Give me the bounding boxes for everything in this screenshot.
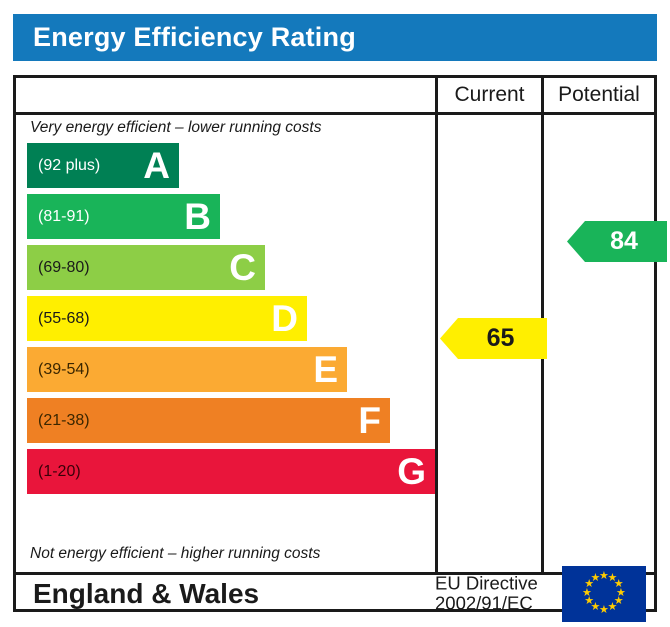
region-label: England & Wales [16,578,259,610]
column-header-blank [16,78,435,112]
column-header-current: Current [435,78,541,112]
table-header-row: Current Potential [16,78,654,115]
band-range-label: (39-54) [38,361,90,379]
eu-directive-label: EU Directive 2002/91/EC [435,573,538,614]
band-range-label: (21-38) [38,412,90,430]
energy-efficiency-certificate: Energy Efficiency Rating Current Potenti… [0,0,670,627]
band-list: (92 plus)A(81-91)B(69-80)C(55-68)D(39-54… [27,143,435,500]
caption-efficient: Very energy efficient – lower running co… [30,119,322,137]
current-rating-arrow: 65 [440,318,547,359]
band-range-label: (55-68) [38,310,90,328]
band-letter-label: F [358,401,381,438]
table-footer: England & Wales EU Directive 2002/91/EC [16,572,654,612]
rating-bands-area: Very energy efficient – lower running co… [16,115,435,572]
band-letter-label: D [271,299,298,336]
eu-directive-line2: 2002/91/EC [435,594,538,615]
potential-rating-arrow: 84 [567,221,667,262]
title-banner: Energy Efficiency Rating [13,14,657,61]
band-a: (92 plus)A [27,143,179,188]
band-b: (81-91)B [27,194,220,239]
band-g: (1-20)G [27,449,435,494]
band-range-label: (81-91) [38,208,90,226]
eu-flag-icon [562,566,646,622]
eu-directive-line1: EU Directive [435,573,538,594]
current-rating-value: 65 [487,324,515,353]
band-range-label: (69-80) [38,259,90,277]
band-letter-label: C [229,248,256,285]
column-divider-current [435,115,438,572]
page-title: Energy Efficiency Rating [13,22,356,53]
column-header-potential: Potential [541,78,654,112]
band-range-label: (1-20) [38,463,81,481]
band-letter-label: E [313,350,338,387]
band-range-label: (92 plus) [38,157,100,175]
band-f: (21-38)F [27,398,390,443]
band-e: (39-54)E [27,347,347,392]
caption-inefficient: Not energy efficient – higher running co… [30,545,320,563]
band-d: (55-68)D [27,296,307,341]
rating-table: Current Potential Very energy efficient … [13,75,657,612]
band-letter-label: G [397,452,426,489]
band-letter-label: A [143,146,170,183]
potential-rating-value: 84 [610,227,638,256]
band-letter-label: B [184,197,211,234]
band-c: (69-80)C [27,245,265,290]
